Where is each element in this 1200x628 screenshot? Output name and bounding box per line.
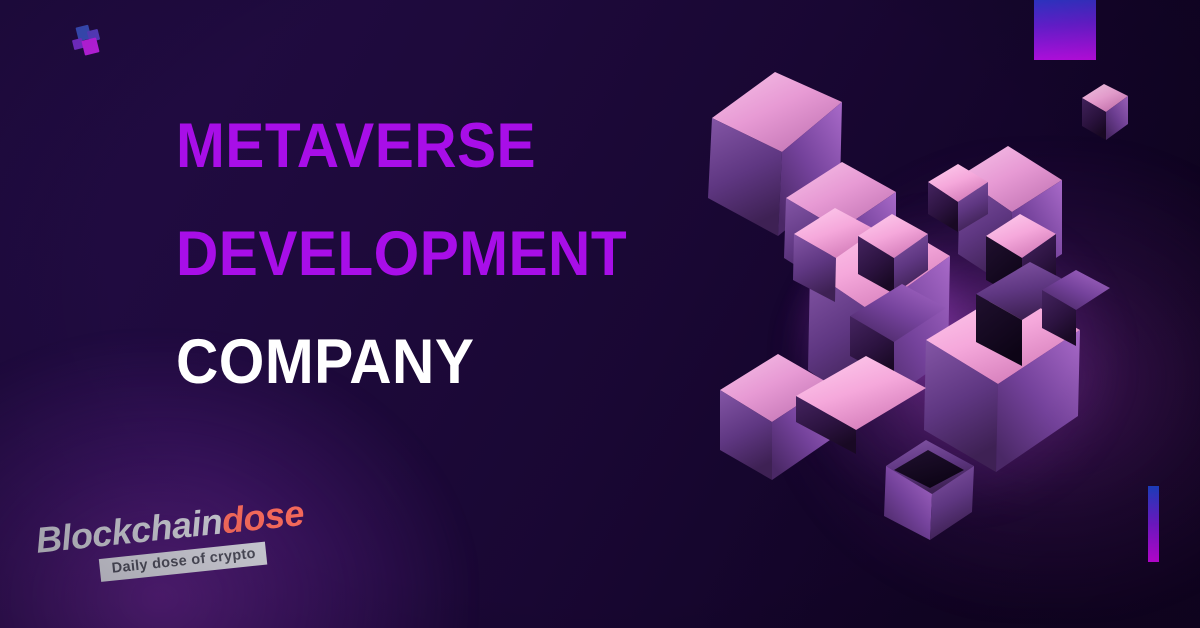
cube-k [1082, 84, 1128, 140]
headline-line-2: DEVELOPMENT [176, 200, 660, 308]
logo-word-accent: dose [220, 492, 306, 541]
blockchaindose-logo[interactable]: Blockchaindose Daily dose of crypto [30, 512, 260, 588]
logo-tile-4 [81, 37, 99, 55]
floating-cubes-artwork [690, 40, 1160, 540]
headline-line-1: METAVERSE [176, 92, 660, 200]
cube-j [884, 440, 974, 540]
headline: METAVERSE DEVELOPMENT COMPANY [176, 92, 696, 416]
headline-line-3: COMPANY [176, 308, 660, 416]
promo-banner: METAVERSE DEVELOPMENT COMPANY Blockchain… [0, 0, 1200, 628]
abstract-squares-logo-icon [72, 24, 106, 60]
cubes-svg [690, 40, 1160, 540]
